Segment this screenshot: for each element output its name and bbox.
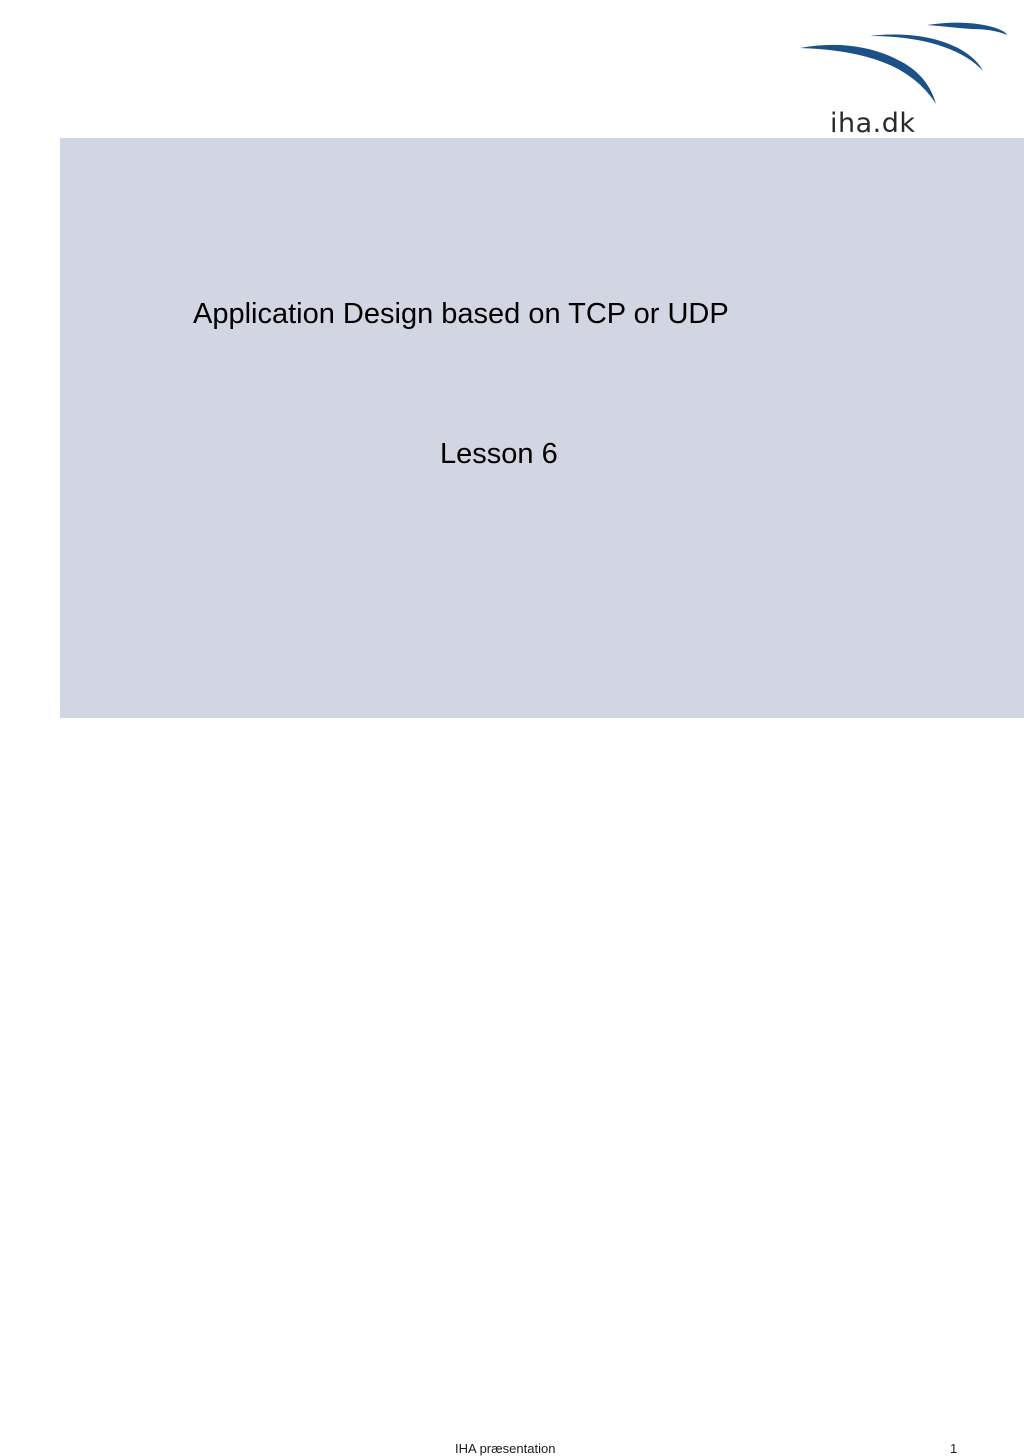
iha-swoosh-logo-icon bbox=[798, 14, 1008, 106]
iha-logo-wordmark: iha.dk bbox=[830, 110, 916, 137]
slide-subtitle: Lesson 6 bbox=[440, 438, 960, 471]
slide-footer-band: IHA præsentation 1 bbox=[0, 718, 1024, 768]
slide-content-panel: Application Design based on TCP or UDP L… bbox=[60, 138, 1024, 718]
slide-title: Application Design based on TCP or UDP bbox=[193, 298, 953, 331]
slide-header-band: iha.dk bbox=[0, 0, 1024, 138]
footer-presentation-label: IHA præsentation bbox=[455, 1441, 555, 1456]
footer-page-number: 1 bbox=[950, 1441, 957, 1456]
iha-logo: iha.dk bbox=[798, 14, 1008, 134]
